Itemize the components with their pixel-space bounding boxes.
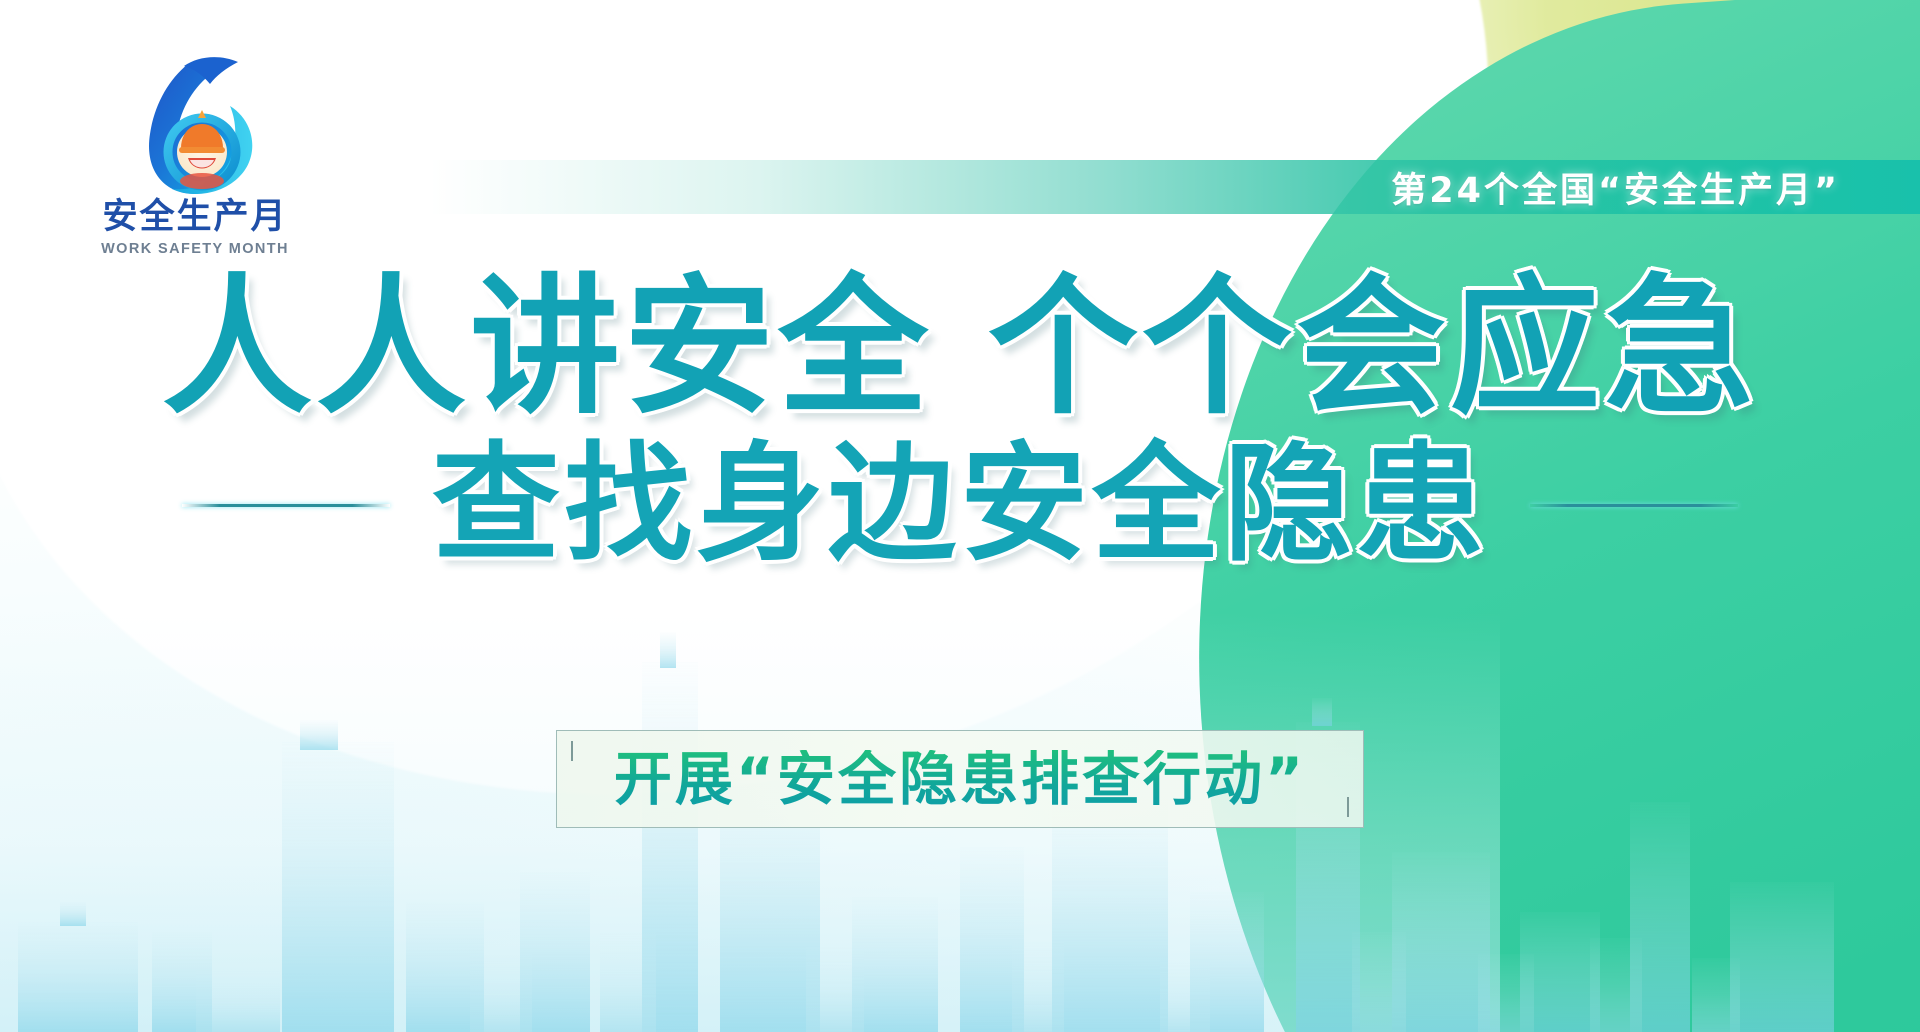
headline-line-1-part-1: 人人讲安全 xyxy=(162,261,932,435)
safety-month-poster: 第24个全国“安全生产月” xyxy=(0,0,1920,1032)
headline-block: 人人讲安全个个会应急 xyxy=(0,272,1920,425)
headline-line-1-part-2: 个个会应急 xyxy=(988,261,1758,435)
subtitle-text: 开展“安全隐患排查行动” xyxy=(614,750,1306,808)
subtitle-box: 开展“安全隐患排查行动” xyxy=(556,730,1364,828)
helmet-worker-icon xyxy=(80,48,310,198)
logo-name-cn: 安全生产月 xyxy=(80,200,310,235)
headline-line-2-row: 查找身边安全隐患 xyxy=(0,438,1920,572)
corner-tick-bottom-right xyxy=(1347,797,1349,817)
logo-name-en: WORK SAFETY MONTH xyxy=(80,242,310,257)
campaign-banner-text: 第24个全国“安全生产月” xyxy=(1391,162,1840,213)
campaign-banner: 第24个全国“安全生产月” xyxy=(430,160,1920,214)
logo-mark xyxy=(80,48,310,198)
work-safety-month-logo: 安全生产月 WORK SAFETY MONTH xyxy=(80,48,310,253)
rule-left xyxy=(182,504,390,507)
corner-tick-top-left xyxy=(571,741,573,761)
rule-right xyxy=(1530,504,1738,507)
headline-line-1: 人人讲安全个个会应急 xyxy=(0,272,1920,425)
headline-line-2: 查找身边安全隐患 xyxy=(432,438,1488,572)
